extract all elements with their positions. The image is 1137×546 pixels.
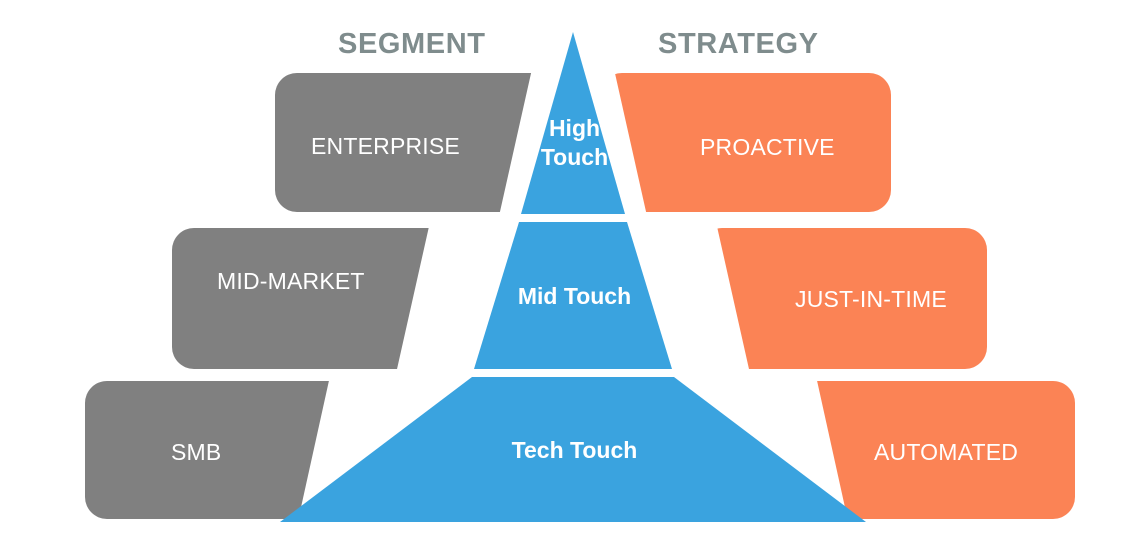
pyramid-label-tech-touch: Tech Touch	[453, 436, 696, 465]
pyramid-label-high-touch: High Touch	[503, 114, 646, 172]
pyramid-label-mid-touch: Mid Touch	[473, 282, 676, 311]
strategy-label-proactive: PROACTIVE	[700, 134, 835, 161]
column-header-strategy: STRATEGY	[658, 28, 819, 61]
column-header-segment: SEGMENT	[338, 28, 486, 61]
segment-label-enterprise: ENTERPRISE	[311, 133, 460, 160]
pyramid-diagram: SEGMENT STRATEGY ENTERPRISE MID-MARKET S…	[0, 0, 1137, 546]
strategy-label-just-in-time: JUST-IN-TIME	[795, 286, 947, 313]
segment-box-mid-market[interactable]	[172, 228, 472, 369]
segment-label-smb: SMB	[171, 439, 221, 466]
segment-label-mid-market: MID-MARKET	[217, 268, 365, 295]
strategy-label-automated: AUTOMATED	[874, 439, 1018, 466]
